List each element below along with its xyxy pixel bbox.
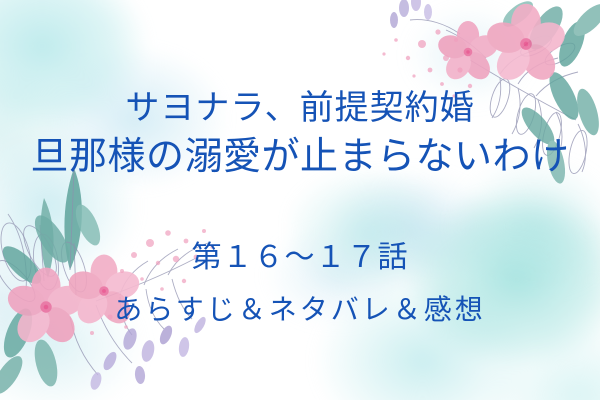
episode-range-label: 第１６〜１７話 — [0, 232, 600, 276]
content-tags-label: あらすじ＆ネタバレ＆感想 — [0, 288, 600, 328]
title-line-1: サヨナラ、前提契約婚 — [0, 88, 600, 129]
subtitle-group: 第１６〜１７話 あらすじ＆ネタバレ＆感想 — [0, 232, 600, 328]
title-line-2: 旦那様の溺愛が止まらないわけ — [0, 133, 600, 179]
title-group: サヨナラ、前提契約婚 旦那様の溺愛が止まらないわけ — [0, 88, 600, 180]
text-layer: サヨナラ、前提契約婚 旦那様の溺愛が止まらないわけ 第１６〜１７話 あらすじ＆ネ… — [0, 0, 600, 400]
eyecatch-card: サヨナラ、前提契約婚 旦那様の溺愛が止まらないわけ 第１６〜１７話 あらすじ＆ネ… — [0, 0, 600, 400]
